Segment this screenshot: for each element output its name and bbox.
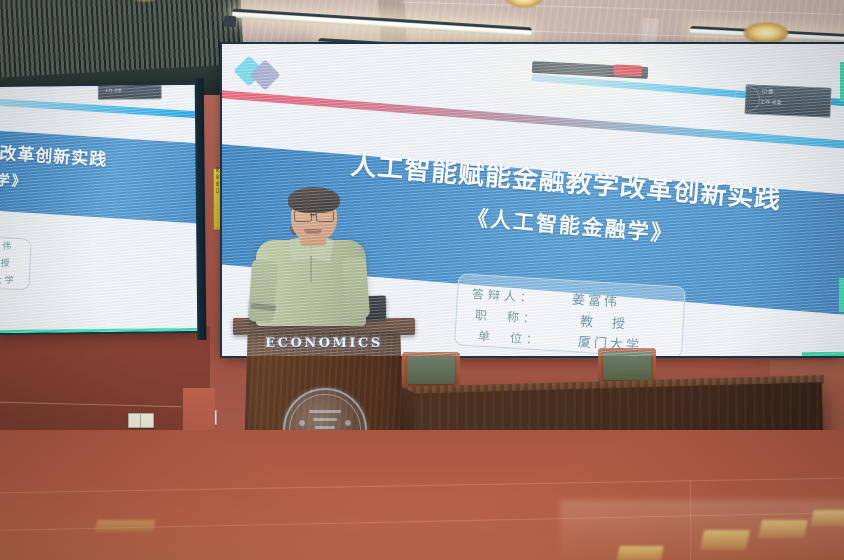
emergency-exit-sign: 安 全 出 口 xyxy=(213,168,222,230)
left-slide-subtitle: 融学》 xyxy=(0,168,28,191)
left-projection-screen: 学改革创新实践 融学》 伟 授 大学 工作 点菜 xyxy=(0,85,200,333)
light-fixture-cap xyxy=(224,16,237,28)
left-slide: 学改革创新实践 融学》 伟 授 大学 工作 点菜 xyxy=(0,85,200,333)
left-slide-info-value: 伟 xyxy=(2,239,14,252)
floor-sheen xyxy=(560,500,844,560)
seal-mark xyxy=(315,426,335,429)
presenter-title-value: 教 授 xyxy=(579,311,628,333)
lecture-hall-photo: 安 全 出 口 学改革创新实践 融学》 伟 授 大学 工作 点菜 xyxy=(0,0,844,560)
seal-mark xyxy=(313,418,337,421)
presenter-glasses-bridge xyxy=(310,214,316,216)
left-screen-osd-text: 工作 点菜 xyxy=(105,88,122,93)
floor-light-reflection-left xyxy=(95,520,156,532)
main-screen-edge-glow-corner xyxy=(802,352,844,356)
seal-mark xyxy=(345,420,351,426)
presenter-info-value: 姜富伟 xyxy=(571,289,620,311)
main-screen-edge-glow xyxy=(840,62,844,102)
presenter-glasses-icon xyxy=(294,210,312,222)
presenter-shirt-placket xyxy=(310,256,312,282)
left-slide-info-value: 大学 xyxy=(0,273,17,286)
light-switch-icon[interactable] xyxy=(140,413,154,428)
downlight-icon xyxy=(743,22,789,44)
presenter-arm-right xyxy=(342,257,370,319)
projector-osd-line-1: 口 圖 xyxy=(762,90,774,95)
seal-mark xyxy=(309,410,341,413)
chair-backrest xyxy=(603,352,651,380)
presenter-arm-left xyxy=(248,259,278,323)
left-slide-info-value: 授 xyxy=(0,256,12,269)
main-screen-edge-glow-bottom xyxy=(839,278,844,312)
presenter-glasses-icon xyxy=(316,210,334,222)
screen-top-banner-badge xyxy=(614,64,643,76)
presenter-person-icon xyxy=(250,186,380,326)
chair-backrest xyxy=(407,356,455,384)
seal-mark xyxy=(299,420,305,426)
presenter-mouth xyxy=(304,229,322,234)
slide-logo xyxy=(236,52,300,92)
podium-label: ECONOMICS xyxy=(241,336,407,351)
projector-osd-line-2: 工作 点菜 xyxy=(760,101,782,107)
left-slide-cyan-stripe xyxy=(0,97,200,120)
emergency-exit-sign-text: 安 全 出 口 xyxy=(214,165,221,196)
